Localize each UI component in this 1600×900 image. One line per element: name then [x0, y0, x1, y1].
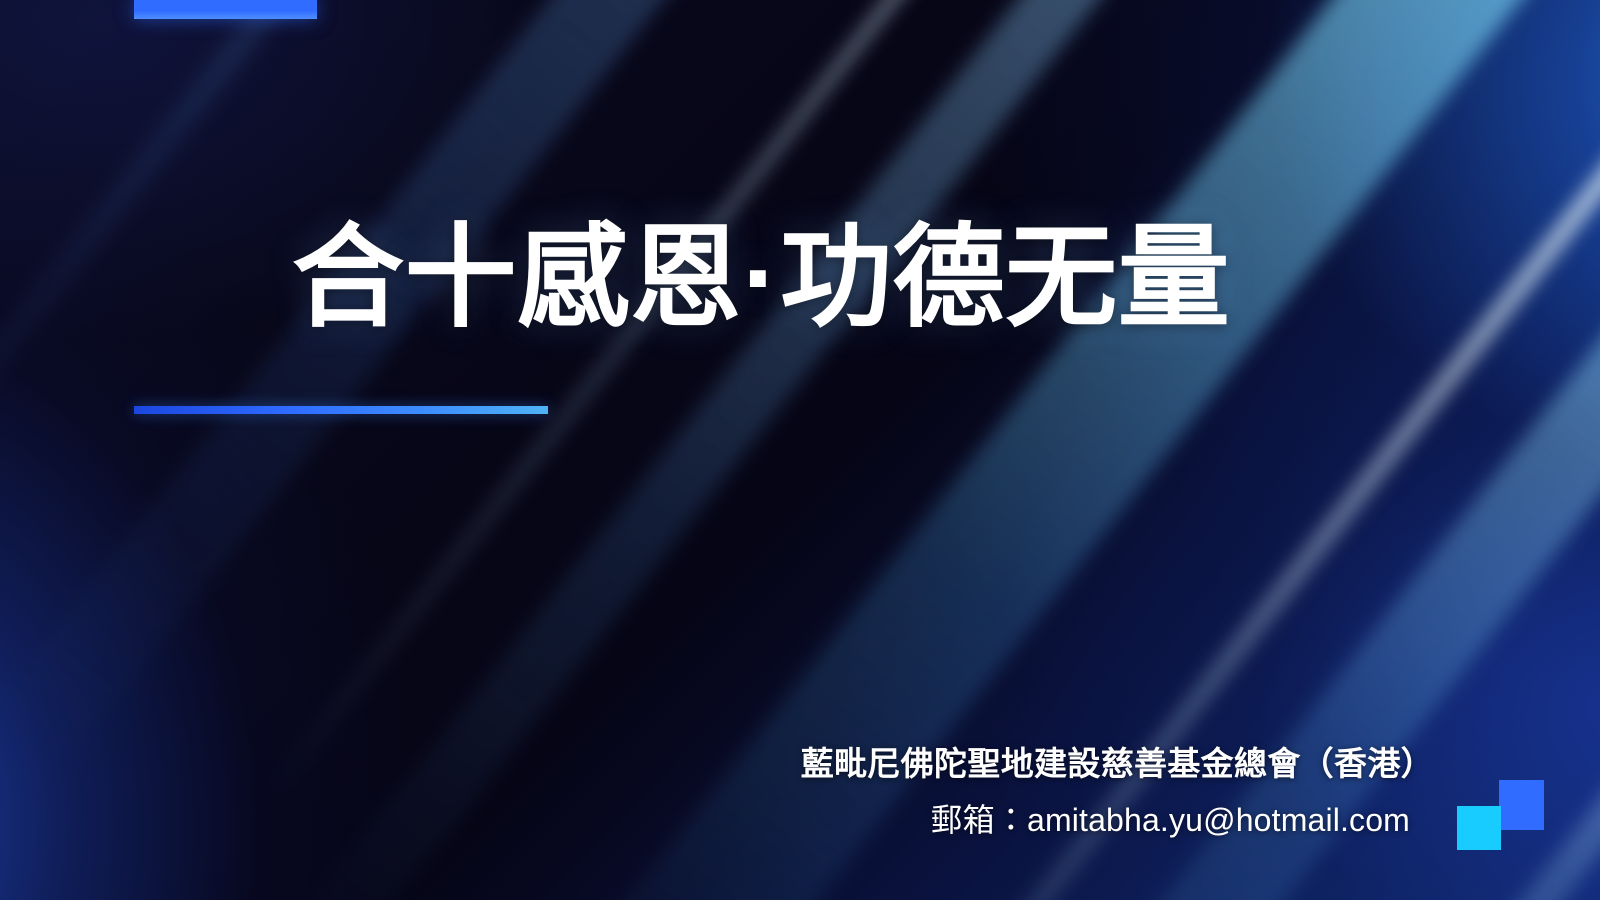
decor-square-blue [1499, 780, 1544, 830]
organization-name: 藍毗尼佛陀聖地建設慈善基金總會（香港） [0, 742, 1434, 786]
page-title: 合十感恩·功德无量 [292, 214, 1230, 342]
contact-email[interactable]: 郵箱：amitabha.yu@hotmail.com [0, 800, 1434, 842]
title-underline-rule [134, 406, 548, 414]
top-left-accent-bar [134, 0, 317, 19]
title-slide: 合十感恩·功德无量 藍毗尼佛陀聖地建設慈善基金總會（香港） 郵箱：amitabh… [0, 0, 1600, 900]
decor-square-cyan [1457, 806, 1501, 850]
footer-block: 藍毗尼佛陀聖地建設慈善基金總會（香港） 郵箱：amitabha.yu@hotma… [0, 742, 1434, 841]
